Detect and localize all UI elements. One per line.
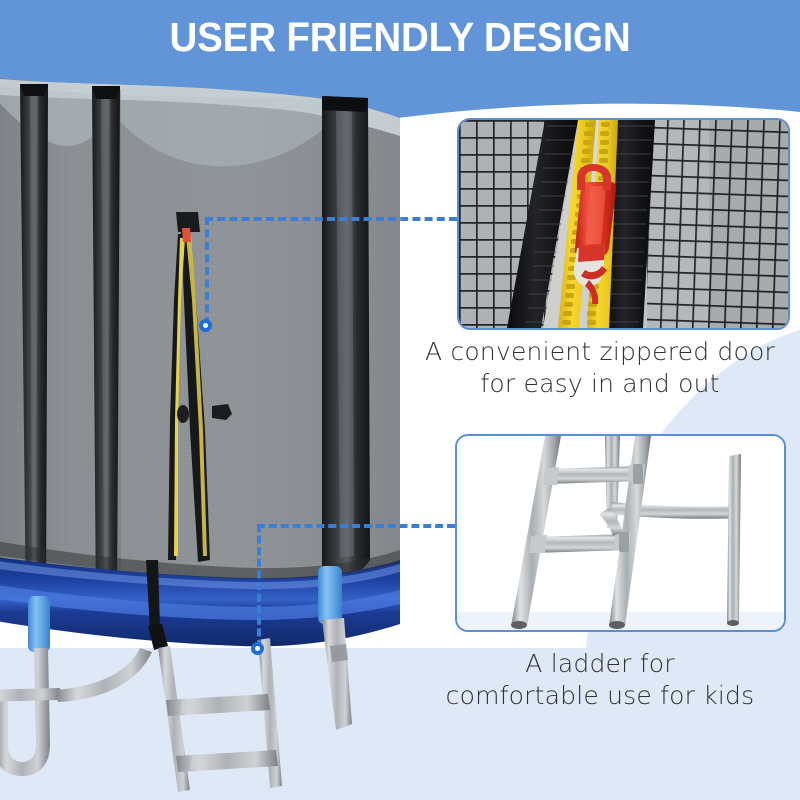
ladder-detail-panel xyxy=(455,434,786,632)
connector-zipper-line-vertical xyxy=(205,217,209,325)
zipper-close-up-photo xyxy=(459,120,788,328)
connector-zipper-marker xyxy=(199,319,212,332)
ladder-close-up-photo xyxy=(457,436,784,630)
connector-ladder-line-horizontal xyxy=(257,524,455,528)
infographic-canvas: USER FRIENDLY DESIGN xyxy=(0,0,800,800)
caption-line-1: A convenient zippered door xyxy=(400,336,800,368)
caption-line-1: A ladder for xyxy=(400,648,800,680)
product-photo xyxy=(0,0,430,800)
connector-ladder-line-vertical xyxy=(257,524,261,648)
zippered-door-detail-panel xyxy=(457,118,790,330)
ladder-caption: A ladder for comfortable use for kids xyxy=(400,648,800,712)
caption-line-2: for easy in and out xyxy=(400,368,800,400)
zippered-door-caption: A convenient zippered door for easy in a… xyxy=(400,336,800,400)
connector-zipper-line-horizontal xyxy=(205,217,457,221)
caption-line-2: comfortable use for kids xyxy=(400,680,800,712)
connector-ladder-marker xyxy=(251,642,264,655)
